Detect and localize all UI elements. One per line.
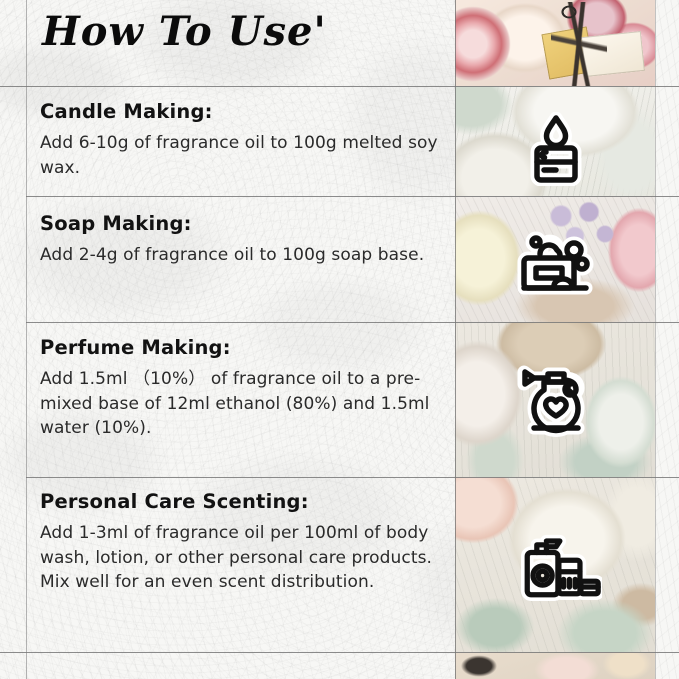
column-divider-rule <box>455 0 456 679</box>
section-body-candle-making: Add 6-10g of fragrance oil to 100g melte… <box>40 131 440 180</box>
rule-candle-soap <box>26 196 679 197</box>
section-heading-candle-making: Candle Making: <box>40 100 440 123</box>
section-perfume-making: Perfume Making: Add 1.5ml （10%） of fragr… <box>40 336 440 441</box>
section-heading-personal-care-scenting: Personal Care Scenting: <box>40 490 440 513</box>
right-margin-engraving <box>655 0 679 679</box>
how-to-use-infographic: How To Use' Candle Making: Add 6-10g of … <box>0 0 679 679</box>
section-body-perfume-making: Add 1.5ml （10%） of fragrance oil to a pr… <box>40 367 440 441</box>
rule-perfume-personal <box>26 477 679 478</box>
section-candle-making: Candle Making: Add 6-10g of fragrance oi… <box>40 100 440 180</box>
candle-icon <box>510 112 602 186</box>
rule-under-title <box>0 86 679 87</box>
twine-shape <box>551 2 607 86</box>
left-vertical-rule <box>26 0 27 679</box>
section-body-personal-care-scenting: Add 1-3ml of fragrance oil per 100ml of … <box>40 521 440 595</box>
perfume-bottle-icon <box>510 356 602 442</box>
section-soap-making: Soap Making: Add 2-4g of fragrance oil t… <box>40 212 440 268</box>
rose-tag-illustration <box>455 0 655 86</box>
lotion-bottles-icon <box>510 520 602 610</box>
section-heading-soap-making: Soap Making: <box>40 212 440 235</box>
section-personal-care-scenting: Personal Care Scenting: Add 1-3ml of fra… <box>40 490 440 595</box>
section-heading-perfume-making: Perfume Making: <box>40 336 440 359</box>
section-body-soap-making: Add 2-4g of fragrance oil to 100g soap b… <box>40 243 440 268</box>
rule-soap-perfume <box>26 322 679 323</box>
page-title: How To Use' <box>42 8 327 55</box>
far-right-vertical-rule <box>655 0 656 679</box>
bottom-strip-illustration <box>455 652 655 679</box>
soap-bar-icon <box>510 222 602 300</box>
rule-bottom <box>0 652 679 653</box>
